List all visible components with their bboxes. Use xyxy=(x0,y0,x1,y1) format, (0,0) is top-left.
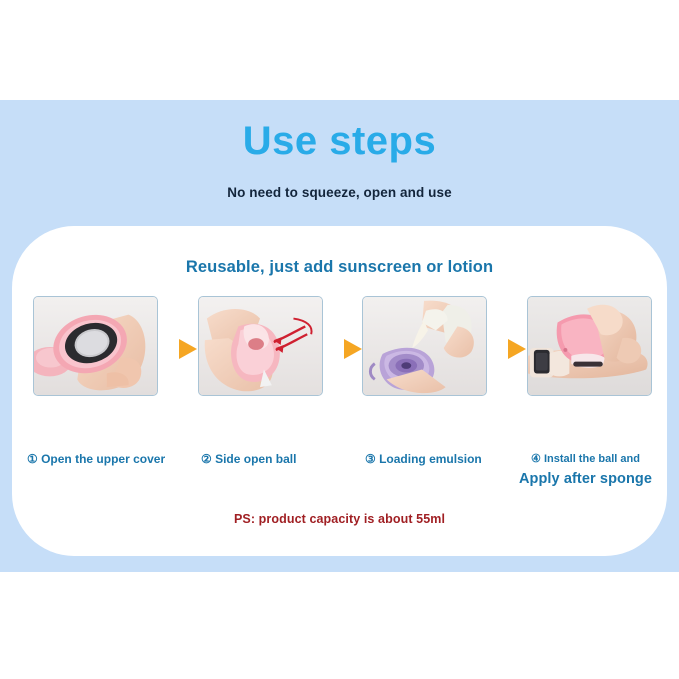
step-item-1 xyxy=(33,296,158,404)
step-4-illustration-icon xyxy=(528,297,651,395)
arrow-icon-3 xyxy=(503,336,529,362)
page-title: Use steps xyxy=(0,100,679,164)
step-caption-4-line1: ④ Install the ball and xyxy=(513,452,658,465)
step-1-illustration-icon xyxy=(34,297,157,395)
step-4-apply-after-sponge-photo xyxy=(527,296,652,396)
page-subtitle: No need to squeeze, open and use xyxy=(0,164,679,200)
triangle-right-arrow-icon xyxy=(503,336,529,362)
step-item-3 xyxy=(362,296,487,404)
step-2-illustration-icon xyxy=(199,297,322,395)
step-1-open-upper-cover-photo xyxy=(33,296,158,396)
arrow-icon-1 xyxy=(174,336,200,362)
step-caption-4: ④ Install the ball and Apply after spong… xyxy=(513,452,658,487)
step-2-side-open-ball-photo xyxy=(198,296,323,396)
step-3-loading-emulsion-photo xyxy=(362,296,487,396)
step-caption-3: ③ Loading emulsion xyxy=(365,452,482,466)
step-item-2 xyxy=(198,296,323,404)
steps-row xyxy=(21,296,658,404)
step-caption-2: ② Side open ball xyxy=(201,452,296,466)
card-heading: Reusable, just add sunscreen or lotion xyxy=(12,258,667,277)
triangle-right-arrow-icon xyxy=(174,336,200,362)
step-item-4 xyxy=(527,296,652,404)
step-caption-1: ① Open the upper cover xyxy=(27,452,165,466)
step-3-illustration-icon xyxy=(363,297,486,395)
banner-header: Use steps No need to squeeze, open and u… xyxy=(0,100,679,200)
step-caption-4-line2: Apply after sponge xyxy=(513,465,658,487)
blue-banner-panel: Use steps No need to squeeze, open and u… xyxy=(0,100,679,572)
capacity-footnote: PS: product capacity is about 55ml xyxy=(0,512,679,526)
steps-captions-row: ① Open the upper cover ② Side open ball … xyxy=(21,452,658,512)
product-instruction-graphic: Use steps No need to squeeze, open and u… xyxy=(0,0,679,679)
